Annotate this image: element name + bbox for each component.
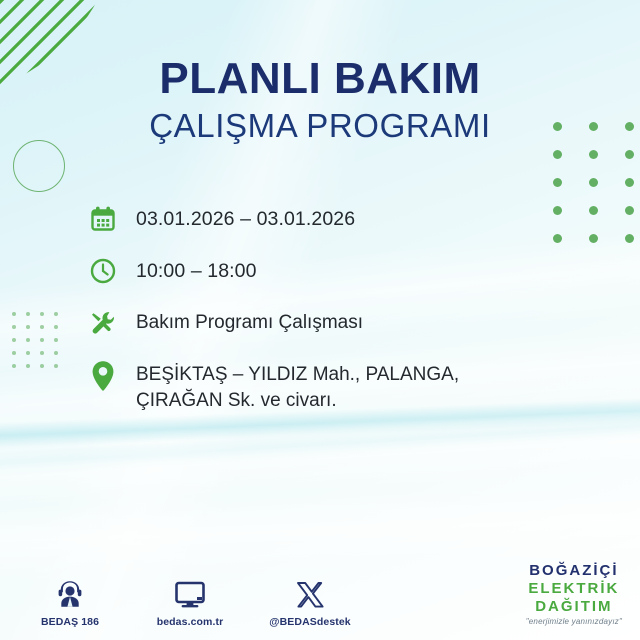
contact-x-account[interactable]: @BEDASdestek — [264, 573, 356, 628]
brand-line-2: ELEKTRİK — [526, 581, 622, 596]
circle-outline-decoration — [13, 140, 65, 192]
page-title: PLANLI BAKIM ÇALIŞMA PROGRAMI — [0, 56, 640, 144]
detail-text-work-type: Bakım Programı Çalışması — [136, 304, 363, 336]
detail-row-work-type: Bakım Programı Çalışması — [86, 304, 556, 342]
detail-text-time: 10:00 – 18:00 — [136, 252, 257, 284]
detail-row-time: 10:00 – 18:00 — [86, 252, 556, 290]
calendar-icon — [86, 200, 120, 238]
clock-icon — [86, 252, 120, 290]
contact-label-x-account: @BEDASdestek — [264, 616, 356, 628]
x-twitter-icon — [264, 573, 356, 611]
dot-grid-left-decoration — [12, 312, 68, 377]
contact-website[interactable]: bedas.com.tr — [144, 573, 236, 628]
brand-line-1: BOĞAZİÇİ — [526, 563, 622, 578]
location-pin-icon — [86, 356, 120, 398]
contact-list: BEDAŞ 186 bedas.com.tr — [24, 573, 356, 628]
bogazici-elektrik-dagitim-logo: BOĞAZİÇİ ELEKTRİK DAĞITIM "enerjimizle y… — [526, 563, 622, 626]
maintenance-details-list: 03.01.2026 – 03.01.2026 10:00 – 18:00 — [86, 200, 556, 427]
headset-support-icon — [24, 573, 116, 611]
footer: BEDAŞ 186 bedas.com.tr — [0, 554, 640, 640]
title-main: PLANLI BAKIM — [0, 56, 640, 102]
contact-label-website: bedas.com.tr — [144, 616, 236, 628]
contact-label-call-center: BEDAŞ 186 — [24, 616, 116, 628]
title-sub: ÇALIŞMA PROGRAMI — [0, 108, 640, 144]
brand-line-3: DAĞITIM — [526, 599, 622, 614]
planned-maintenance-poster: PLANLI BAKIM ÇALIŞMA PROGRAMI 03 — [0, 0, 640, 640]
detail-row-location: BEŞİKTAŞ – YILDIZ Mah., PALANGA, ÇIRAĞAN… — [86, 356, 556, 413]
detail-row-date: 03.01.2026 – 03.01.2026 — [86, 200, 556, 238]
contact-call-center[interactable]: BEDAŞ 186 — [24, 573, 116, 628]
tools-icon — [86, 304, 120, 342]
detail-text-date: 03.01.2026 – 03.01.2026 — [136, 200, 355, 232]
brand-tagline: "enerjimizle yanınızdayız" — [526, 618, 622, 626]
detail-text-location: BEŞİKTAŞ – YILDIZ Mah., PALANGA, ÇIRAĞAN… — [136, 356, 459, 413]
monitor-icon — [144, 573, 236, 611]
